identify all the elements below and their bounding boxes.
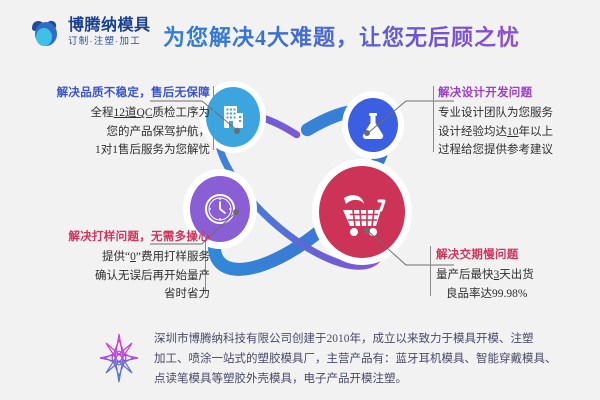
callout-delivery-title: 解决交期慢问题 [436,246,600,262]
promo-banner: 博腾纳模具 订制·注塑·加工 为您解决4大难题，让您无后顾之忧 [0,0,600,400]
callout-design-line-3: 过程给您提供参考建议 [438,141,598,160]
callout-quality-line-1: 全程12道QC质检工序为 [20,104,210,123]
callout-design-title: 解决设计开发问题 [438,84,598,100]
callout-quality-line-3: 1对1售后服务为您解忧 [20,141,210,160]
connector-dot-top-right [364,130,370,136]
page-title: 为您解决4大难题，让您无后顾之忧 [163,20,520,52]
callout-delivery-line-2: 良品率达99.98% [436,285,600,304]
footer: 深圳市博腾纳科技有限公司创建于2010年，成立以来致力于模具开模、注塑 加工、喷… [96,330,516,389]
callout-sampling-line-1: 提供“0”费用打样服务 [10,248,210,267]
compass-star-icon [96,330,142,386]
callout-sampling-line-3: 省时省力 [10,285,210,304]
company-logo[interactable]: 博腾纳模具 订制·注塑·加工 [28,16,151,48]
callout-delivery-line-1: 量产后最快3天出货 [436,266,600,285]
company-description-line-3: 点读笔模具等塑胶外壳模具，电子产品开模注塑。 [154,370,557,390]
callout-delivery: 解决交期慢问题 量产后最快3天出货 良品率达99.98% [436,246,600,303]
callout-rule-top-right [433,86,434,152]
header: 博腾纳模具 订制·注塑·加工 为您解决4大难题，让您无后顾之忧 [0,0,600,68]
connector-dot-bottom-left [233,209,239,215]
company-description-line-2: 加工、喷涂一站式的塑胶模具厂，主营产品有：蓝牙耳机模具、智能穿戴模具、 [154,350,557,370]
callout-quality-title: 解决品质不稳定，售后无保障 [20,84,210,100]
callout-sampling-line-2: 确认无误后再开始量产 [10,267,210,286]
connector-dot-bottom-right [364,228,370,234]
logo-company-name: 博腾纳模具 [68,18,151,34]
callout-design-line-2: 设计经验均达10年以上 [438,123,598,142]
company-description-line-1: 深圳市博腾纳科技有限公司创建于2010年，成立以来致力于模具开模、注塑 [154,330,557,350]
logo-subtitle: 订制·注塑·加工 [68,37,151,47]
callout-design-line-1: 专业设计团队为您服务 [438,104,598,123]
callout-sampling-title: 解决打样问题，无需多操心 [10,228,210,244]
callout-sampling: 解决打样问题，无需多操心 提供“0”费用打样服务 确认无误后再开始量产 省时省力 [10,228,210,304]
connector-dot-top-left [234,128,240,134]
callout-rule-top-left [213,86,214,150]
callout-quality: 解决品质不稳定，售后无保障 全程12道QC质检工序为 您的产品保驾护航， 1对1… [20,84,210,160]
logo-mark-icon [28,16,62,48]
company-description: 深圳市博腾纳科技有限公司创建于2010年，成立以来致力于模具开模、注塑 加工、喷… [154,330,557,389]
callout-design: 解决设计开发问题 专业设计团队为您服务 设计经验均达10年以上 过程给您提供参考… [438,84,598,160]
callout-rule-bottom-right [430,246,431,296]
callout-quality-line-2: 您的产品保驾护航， [20,123,210,142]
